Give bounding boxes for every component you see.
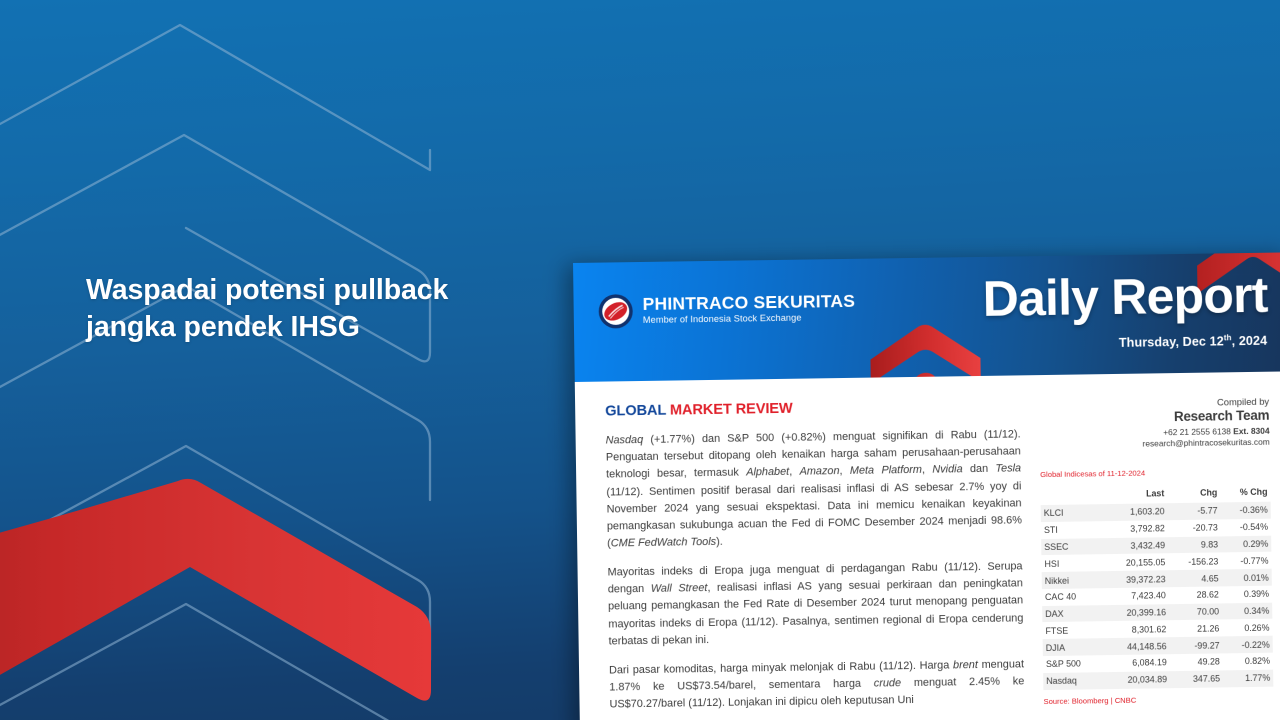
cell-pct: 0.26% bbox=[1222, 619, 1272, 637]
col-pct: % Chg bbox=[1220, 484, 1270, 503]
document-title: Daily Report bbox=[982, 270, 1268, 324]
cell-chg: 4.65 bbox=[1168, 570, 1221, 588]
cell-pct: 0.29% bbox=[1221, 535, 1271, 553]
cell-name: STI bbox=[1041, 521, 1101, 539]
cell-chg: 28.62 bbox=[1169, 586, 1222, 604]
red-chevron-large bbox=[0, 430, 182, 482]
cell-chg: 21.26 bbox=[1169, 620, 1222, 638]
cell-last: 3,792.82 bbox=[1101, 520, 1168, 538]
cell-last: 20,034.89 bbox=[1103, 671, 1170, 689]
cell-last: 6,084.19 bbox=[1103, 654, 1170, 672]
cell-pct: 0.01% bbox=[1221, 569, 1271, 587]
phone-extension: Ext. 8304 bbox=[1233, 426, 1269, 437]
company-logo: PHINTRACO SEKURITAS Member of Indonesia … bbox=[597, 290, 855, 330]
cell-last: 44,148.56 bbox=[1103, 637, 1170, 655]
cell-name: DAX bbox=[1042, 605, 1102, 623]
cell-name: S&P 500 bbox=[1043, 655, 1103, 673]
cell-pct: -0.22% bbox=[1222, 636, 1272, 654]
market-review-column: GLOBAL MARKET REVIEW Nasdaq (+1.77%) dan… bbox=[605, 397, 1025, 720]
section-heading: GLOBAL MARKET REVIEW bbox=[605, 397, 1020, 419]
heading-global: GLOBAL bbox=[605, 403, 666, 420]
cell-pct: 0.34% bbox=[1222, 602, 1272, 620]
cell-name: FTSE bbox=[1042, 622, 1102, 640]
date-suffix: , 2024 bbox=[1232, 334, 1268, 349]
indices-source: Source: Bloomberg | CNBC bbox=[1043, 693, 1273, 705]
indices-title-text: Global Indices bbox=[1040, 469, 1088, 479]
cell-chg: 9.83 bbox=[1168, 536, 1221, 554]
slide-headline: Waspadai potensi pullback jangka pendek … bbox=[86, 272, 516, 346]
compiled-by-block: Compiled by Research Team +62 21 2555 61… bbox=[1039, 396, 1270, 450]
table-row: Nasdaq20,034.89347.651.77% bbox=[1043, 669, 1273, 689]
header-chevron-group-icon bbox=[866, 312, 985, 382]
cell-pct: -0.36% bbox=[1220, 502, 1270, 520]
indices-as-of: as of 11-12-2024 bbox=[1088, 469, 1145, 479]
col-name bbox=[1040, 486, 1100, 505]
research-team-name: Research Team bbox=[1039, 408, 1269, 426]
review-paragraph: Mayoritas indeks di Eropa juga menguat d… bbox=[607, 558, 1023, 650]
contact-email: research@phintracosekuritas.com bbox=[1040, 437, 1270, 450]
cell-last: 7,423.40 bbox=[1102, 587, 1169, 605]
cell-last: 39,372.23 bbox=[1102, 570, 1169, 588]
cell-chg: -156.23 bbox=[1168, 553, 1221, 571]
phone-number: +62 21 2555 6138 bbox=[1163, 426, 1231, 437]
cell-chg: 49.28 bbox=[1170, 653, 1223, 671]
review-paragraph: Nasdaq (+1.77%) dan S&P 500 (+0.82%) men… bbox=[606, 426, 1023, 553]
cell-name: Nikkei bbox=[1042, 571, 1102, 589]
heading-market-review: MARKET REVIEW bbox=[670, 401, 793, 419]
date-prefix: Thursday, Dec 12 bbox=[1119, 335, 1224, 351]
review-paragraph: Dari pasar komoditas, harga minyak melon… bbox=[609, 656, 1025, 714]
document-header: PHINTRACO SEKURITAS Member of Indonesia … bbox=[573, 252, 1280, 382]
cell-name: DJIA bbox=[1043, 638, 1103, 656]
indices-column: Compiled by Research Team +62 21 2555 61… bbox=[1039, 394, 1274, 720]
daily-report-document[interactable]: PHINTRACO SEKURITAS Member of Indonesia … bbox=[573, 252, 1280, 720]
cell-pct: 1.77% bbox=[1223, 669, 1273, 687]
cell-name: Nasdaq bbox=[1043, 672, 1103, 690]
phintraco-logo-icon bbox=[597, 293, 634, 330]
cell-last: 1,603.20 bbox=[1101, 503, 1168, 521]
cell-last: 8,301.62 bbox=[1102, 621, 1169, 639]
cell-last: 20,399.16 bbox=[1102, 604, 1169, 622]
cell-name: KLCI bbox=[1041, 504, 1101, 522]
cell-pct: 0.82% bbox=[1223, 653, 1273, 671]
col-chg: Chg bbox=[1167, 484, 1220, 503]
cell-pct: -0.77% bbox=[1221, 552, 1271, 570]
cell-pct: -0.54% bbox=[1221, 518, 1271, 536]
cell-last: 3,432.49 bbox=[1101, 537, 1168, 555]
cell-name: CAC 40 bbox=[1042, 588, 1102, 606]
cell-pct: 0.39% bbox=[1222, 586, 1272, 604]
document-date: Thursday, Dec 12th, 2024 bbox=[1119, 333, 1268, 350]
cell-chg: 347.65 bbox=[1170, 670, 1223, 688]
cell-name: HSI bbox=[1041, 555, 1101, 573]
cell-chg: -99.27 bbox=[1169, 637, 1222, 655]
global-indices-title: Global Indicesas of 11-12-2024 bbox=[1040, 466, 1270, 480]
col-last: Last bbox=[1100, 485, 1167, 504]
cell-chg: -5.77 bbox=[1167, 502, 1220, 520]
cell-chg: 70.00 bbox=[1169, 603, 1222, 621]
cell-name: SSEC bbox=[1041, 538, 1101, 556]
cell-chg: -20.73 bbox=[1168, 519, 1221, 537]
logo-company-subtitle: Member of Indonesia Stock Exchange bbox=[643, 313, 856, 325]
logo-company-name: PHINTRACO SEKURITAS bbox=[643, 293, 856, 314]
red-chevron-main bbox=[0, 479, 431, 720]
global-indices-table: Last Chg % Chg KLCI1,603.20-5.77-0.36%ST… bbox=[1040, 484, 1273, 690]
cell-last: 20,155.05 bbox=[1101, 554, 1168, 572]
